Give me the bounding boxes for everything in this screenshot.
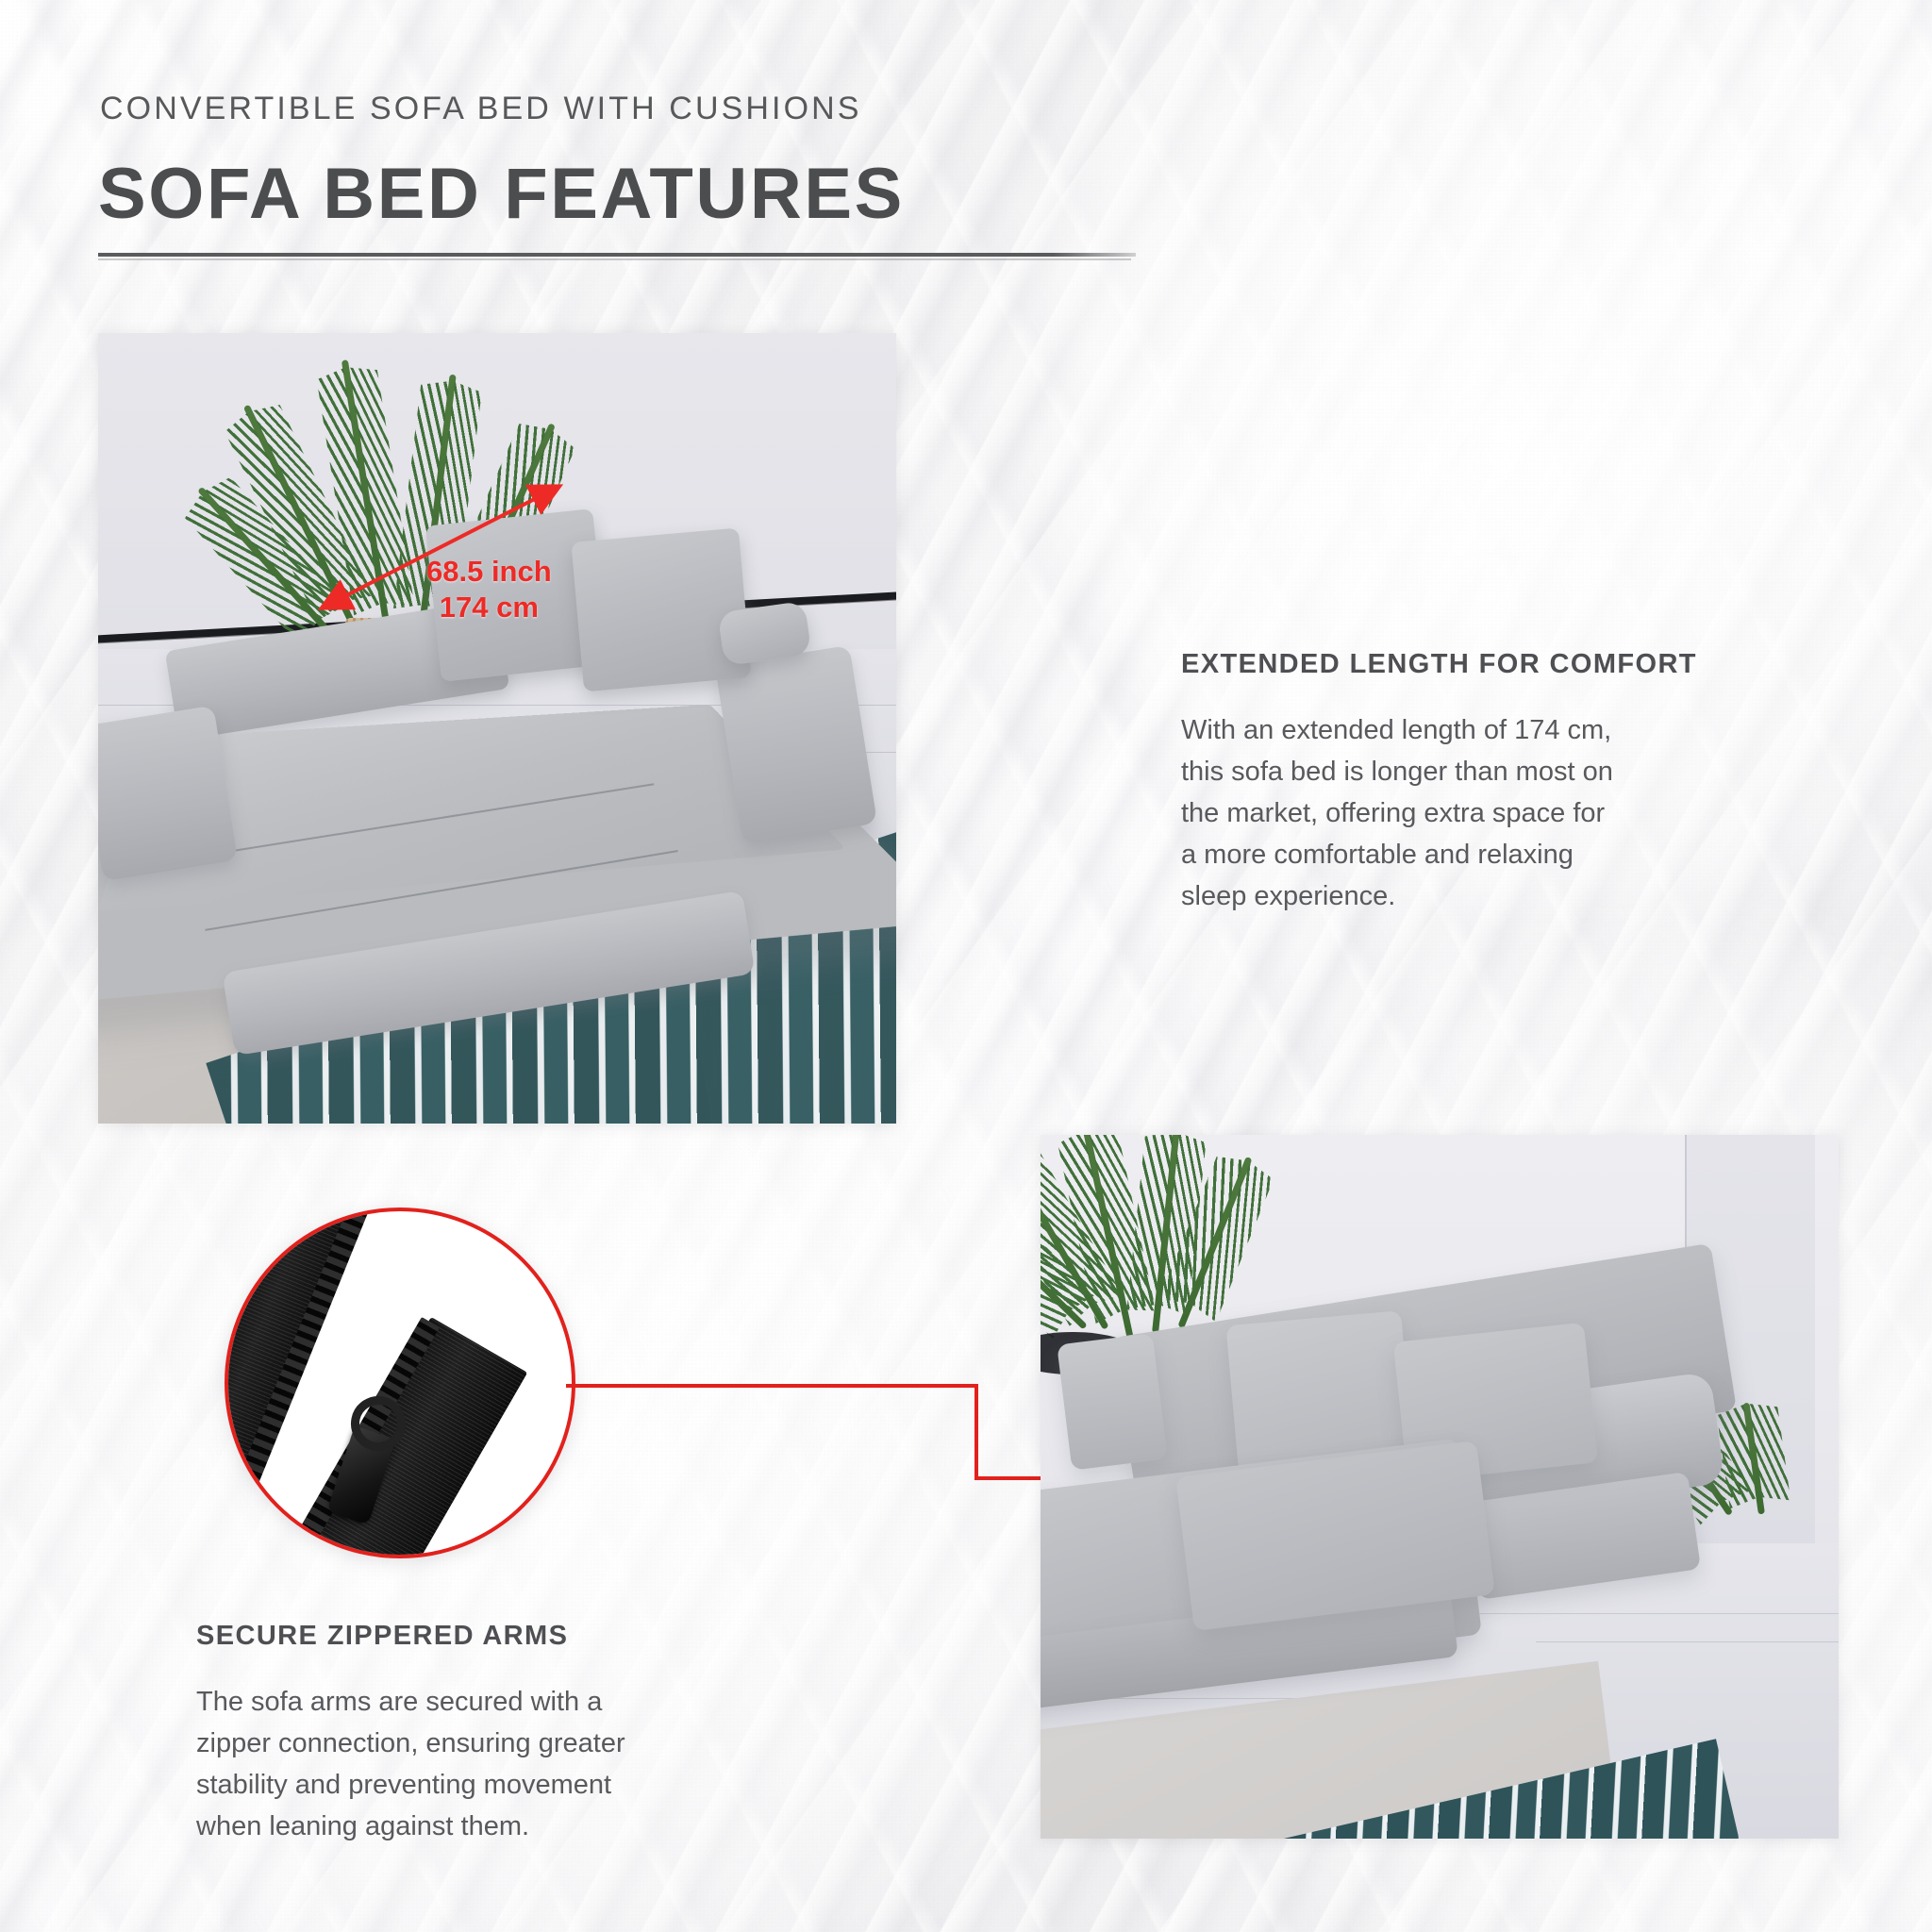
feature-body-line: stability and preventing movement: [196, 1764, 800, 1806]
feature-title-extended-length: EXTENDED LENGTH FOR COMFORT: [1181, 649, 1697, 680]
photo-sofa-bed-flat: 68.5 inch 174 cm: [98, 333, 896, 1124]
kicker-text: CONVERTIBLE SOFA BED WITH CUSHIONS: [100, 91, 862, 127]
feature-body-line: a more comfortable and relaxing: [1181, 834, 1823, 875]
sofa-arm-left: [1058, 1334, 1168, 1472]
feature-body-zippered-arms: The sofa arms are secured with a zipper …: [196, 1681, 800, 1847]
feature-body-line: zipper connection, ensuring greater: [196, 1723, 800, 1764]
feature-title-zippered-arms: SECURE ZIPPERED ARMS: [196, 1621, 568, 1652]
zipper-detail-callout: [225, 1207, 575, 1558]
feature-body-extended-length: With an extended length of 174 cm, this …: [1181, 709, 1823, 917]
feature-body-line: when leaning against them.: [196, 1806, 800, 1847]
feature-body-line: the market, offering extra space for: [1181, 792, 1823, 834]
dimension-inches: 68.5 inch: [426, 554, 552, 590]
dimension-label: 68.5 inch 174 cm: [426, 554, 552, 625]
infographic-page: CONVERTIBLE SOFA BED WITH CUSHIONS SOFA …: [0, 0, 1932, 1932]
connector-segment-vertical: [974, 1384, 978, 1480]
title-divider-shadow: [98, 258, 1131, 260]
feature-body-line: this sofa bed is longer than most on: [1181, 751, 1823, 792]
floor-tile-line: [1536, 1641, 1839, 1642]
title-divider: [98, 253, 1136, 257]
feature-body-line: With an extended length of 174 cm,: [1181, 709, 1823, 751]
photo-sofa-folded: [1041, 1135, 1839, 1839]
feature-body-line: The sofa arms are secured with a: [196, 1681, 800, 1723]
page-title: SOFA BED FEATURES: [98, 158, 905, 230]
feature-body-line: sleep experience.: [1181, 875, 1823, 917]
dimension-centimeters: 174 cm: [426, 590, 552, 625]
connector-segment-horizontal-1: [566, 1384, 978, 1388]
dimension-arrow-icon: [98, 333, 896, 1124]
